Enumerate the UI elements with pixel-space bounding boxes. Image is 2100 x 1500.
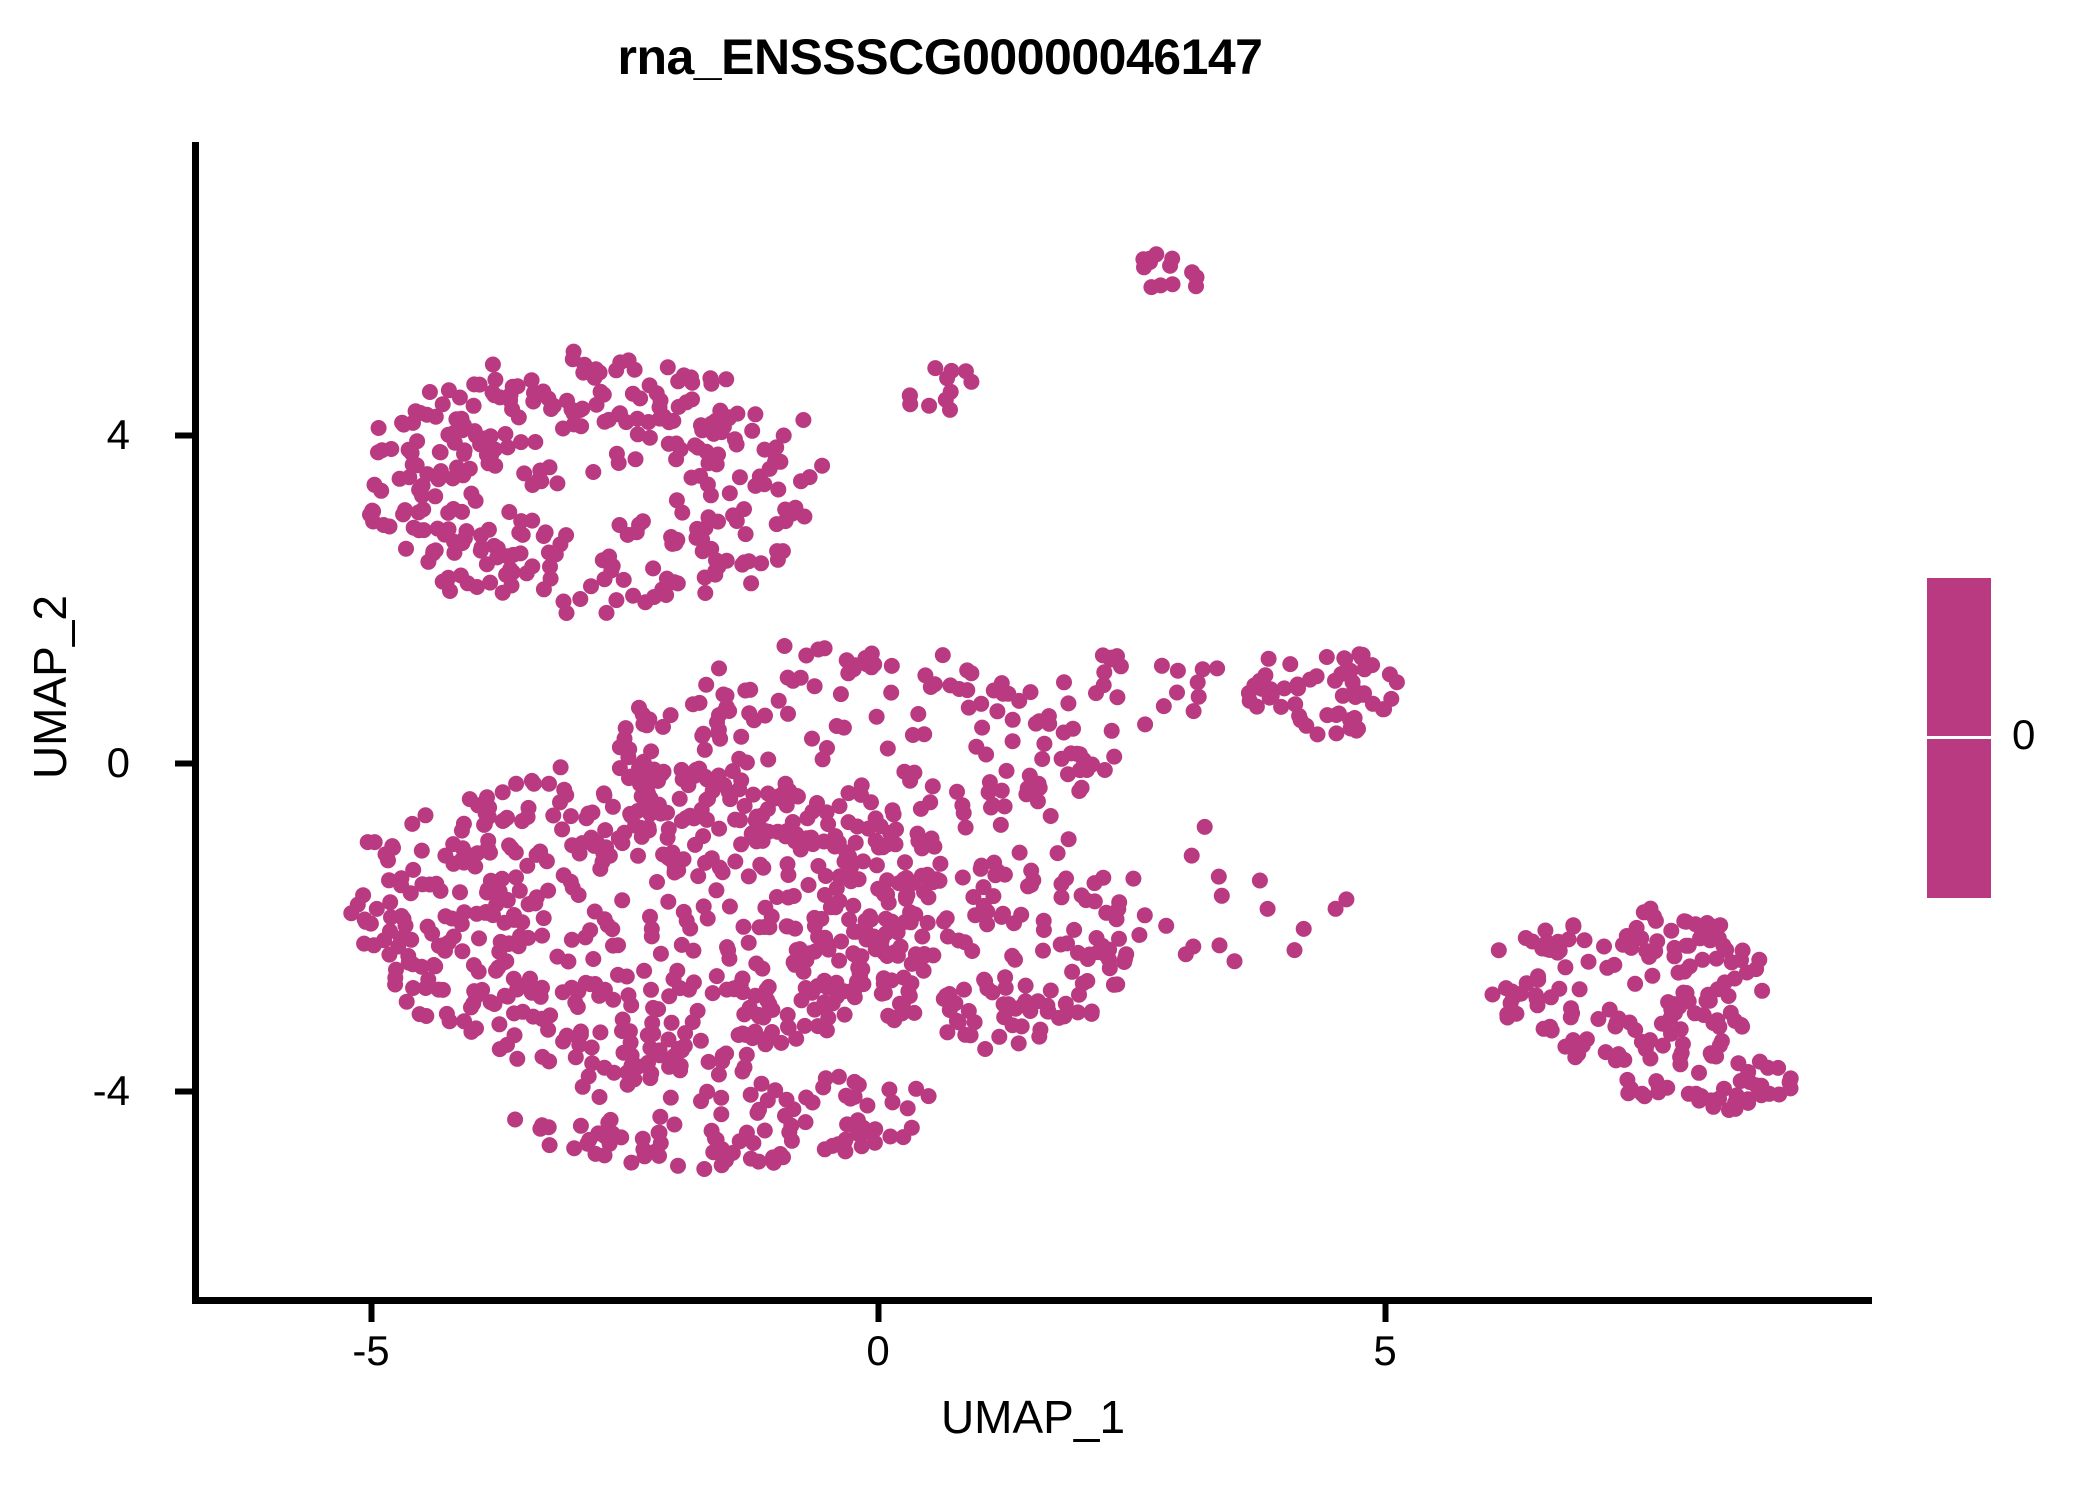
scatter-point — [879, 886, 895, 902]
scatter-point — [1519, 975, 1535, 991]
scatter-point — [1050, 845, 1066, 861]
scatter-point — [1211, 869, 1227, 885]
scatter-point — [597, 571, 613, 587]
scatter-point — [863, 911, 879, 927]
scatter-point — [810, 858, 826, 874]
scatter-point — [1740, 1064, 1756, 1080]
scatter-point — [1137, 907, 1153, 923]
scatter-point — [1581, 954, 1597, 970]
scatter-point — [414, 843, 430, 859]
y-tick-label-4: 4 — [40, 414, 130, 456]
scatter-point — [1109, 976, 1125, 992]
scatter-point — [1058, 871, 1074, 887]
scatter-point — [597, 1147, 613, 1163]
scatter-point — [780, 670, 796, 686]
scatter-point — [1059, 935, 1075, 951]
scatter-point — [711, 1067, 727, 1083]
scatter-point — [420, 972, 436, 988]
scatter-point — [897, 854, 913, 870]
scatter-point — [1031, 1029, 1047, 1045]
scatter-point — [926, 839, 942, 855]
y-tick-label-minus4: -4 — [40, 1070, 130, 1112]
scatter-point — [866, 656, 882, 672]
scatter-point — [949, 784, 965, 800]
scatter-point — [592, 861, 608, 877]
scatter-point — [1382, 666, 1398, 682]
scatter-point — [735, 984, 751, 1000]
scatter-point — [755, 860, 771, 876]
scatter-point — [963, 665, 979, 681]
scatter-point — [727, 854, 743, 870]
scatter-point — [1623, 940, 1639, 956]
scatter-point — [672, 791, 688, 807]
scatter-point — [483, 994, 499, 1010]
scatter-point — [468, 493, 484, 509]
scatter-point — [636, 963, 652, 979]
scatter-point — [780, 1019, 796, 1035]
scatter-point — [374, 442, 390, 458]
scatter-point — [1491, 942, 1507, 958]
scatter-point — [1347, 710, 1363, 726]
scatter-point — [722, 791, 738, 807]
scatter-point — [405, 956, 421, 972]
scatter-point — [1162, 258, 1178, 274]
scatter-point — [504, 578, 520, 594]
scatter-point — [422, 384, 438, 400]
scatter-point — [493, 934, 509, 950]
scatter-point — [1018, 978, 1034, 994]
scatter-point — [1282, 656, 1298, 672]
scatter-point — [999, 763, 1015, 779]
scatter-point — [649, 874, 665, 890]
scatter-point — [387, 970, 403, 986]
scatter-point — [642, 430, 658, 446]
scatter-point — [666, 971, 682, 987]
scatter-point — [670, 1158, 686, 1174]
scatter-point — [632, 776, 648, 792]
scatter-point — [433, 883, 449, 899]
scatter-point — [676, 367, 692, 383]
scatter-point — [880, 1008, 896, 1024]
scatter-point — [571, 887, 587, 903]
scatter-point — [745, 1135, 761, 1151]
scatter-point — [754, 1076, 770, 1092]
scatter-point — [1328, 901, 1344, 917]
scatter-point — [507, 1112, 523, 1128]
scatter-point — [1188, 278, 1204, 294]
scatter-point — [610, 967, 626, 983]
scatter-point — [605, 799, 621, 815]
scatter-point — [1655, 1038, 1671, 1054]
scatter-point — [1536, 1021, 1552, 1037]
scatter-point — [1012, 845, 1028, 861]
scatter-point — [929, 871, 945, 887]
scatter-point — [1557, 959, 1573, 975]
scatter-point — [1084, 1006, 1100, 1022]
scatter-point — [1023, 863, 1039, 879]
scatter-point — [470, 797, 486, 813]
scatter-point — [454, 852, 470, 868]
scatter-point — [780, 706, 796, 722]
scatter-point — [845, 898, 861, 914]
scatter-point — [789, 942, 805, 958]
scatter-point — [993, 817, 1009, 833]
scatter-point — [678, 394, 694, 410]
scatter-point — [777, 1108, 793, 1124]
scatter-point — [1007, 952, 1023, 968]
scatter-point — [555, 984, 571, 1000]
scatter-point — [1708, 951, 1724, 967]
scatter-point — [902, 388, 918, 404]
scatter-point — [914, 868, 930, 884]
scatter-point — [1529, 991, 1545, 1007]
scatter-point — [513, 545, 529, 561]
scatter-point — [877, 985, 893, 1001]
scatter-point — [974, 720, 990, 736]
scatter-point — [652, 411, 668, 427]
scatter-point — [722, 485, 738, 501]
y-axis-label: UMAP_2 — [23, 457, 77, 917]
scatter-point — [1638, 943, 1654, 959]
scatter-point — [608, 362, 624, 378]
scatter-point — [620, 527, 636, 543]
scatter-point — [1106, 749, 1122, 765]
scatter-point — [714, 1141, 730, 1157]
scatter-point — [1143, 279, 1159, 295]
scatter-point — [756, 476, 772, 492]
scatter-point — [1577, 932, 1593, 948]
scatter-point — [479, 440, 495, 456]
scatter-point — [799, 830, 815, 846]
scatter-point — [1287, 942, 1303, 958]
scatter-point — [1693, 1088, 1709, 1104]
scatter-point — [1066, 922, 1082, 938]
scatter-point — [1056, 674, 1072, 690]
scatter-point — [804, 731, 820, 747]
scatter-point — [829, 988, 845, 1004]
scatter-point — [863, 794, 879, 810]
scatter-point — [987, 867, 1003, 883]
scatter-point — [638, 759, 654, 775]
scatter-point — [846, 946, 862, 962]
scatter-point — [432, 444, 448, 460]
scatter-point — [614, 892, 630, 908]
scatter-point — [699, 812, 715, 828]
scatter-point — [1663, 1002, 1679, 1018]
scatter-point — [854, 1138, 870, 1154]
scatter-point — [833, 686, 849, 702]
scatter-point — [595, 552, 611, 568]
scatter-point — [534, 1011, 550, 1027]
scatter-point — [761, 996, 777, 1012]
scatter-point — [888, 822, 904, 838]
scatter-point — [778, 828, 794, 844]
scatter-point — [816, 834, 832, 850]
scatter-point — [566, 344, 582, 360]
scatter-point — [1074, 887, 1090, 903]
scatter-point — [737, 683, 753, 699]
scatter-point — [343, 905, 359, 921]
scatter-point — [570, 999, 586, 1015]
scatter-point — [629, 411, 645, 427]
scatter-point — [644, 928, 660, 944]
scatter-point — [535, 1049, 551, 1065]
scatter-point — [445, 501, 461, 517]
scatter-point — [714, 1157, 730, 1173]
scatter-point — [1619, 1072, 1635, 1088]
scatter-point — [652, 1125, 668, 1141]
scatter-point — [373, 483, 389, 499]
scatter-point — [437, 527, 453, 543]
umap-feature-plot: rna_ENSSSCG00000046147 4 0 -4 -5 0 5 UMA… — [0, 0, 2100, 1500]
scatter-point — [1748, 1077, 1764, 1093]
scatter-point — [661, 821, 677, 837]
scatter-point — [741, 705, 757, 721]
scatter-point — [1109, 689, 1125, 705]
scatter-point — [798, 1090, 814, 1106]
scatter-point — [894, 1005, 910, 1021]
scatter-point — [1700, 987, 1716, 1003]
scatter-point — [393, 870, 409, 886]
scatter-point — [745, 787, 761, 803]
scatter-point — [403, 885, 419, 901]
scatter-point — [666, 1117, 682, 1133]
scatter-point — [1041, 716, 1057, 732]
scatter-point — [1169, 685, 1185, 701]
scatter-point — [1104, 723, 1120, 739]
x-axis-label: UMAP_1 — [194, 1390, 1872, 1444]
scatter-point — [851, 871, 867, 887]
scatter-point — [677, 1025, 693, 1041]
scatter-point — [1319, 707, 1335, 723]
scatter-point — [587, 976, 603, 992]
scatter-point — [469, 579, 485, 595]
scatter-point — [1335, 688, 1351, 704]
scatter-point — [807, 918, 823, 934]
scatter-point — [442, 583, 458, 599]
scatter-point — [585, 464, 601, 480]
scatter-point — [396, 417, 412, 433]
scatter-point — [799, 810, 815, 826]
scatter-point — [1064, 964, 1080, 980]
scatter-point — [757, 1123, 773, 1139]
scatter-point — [661, 1032, 677, 1048]
scatter-point — [802, 469, 818, 485]
scatter-point — [893, 939, 909, 955]
scatter-point — [1131, 927, 1147, 943]
scatter-point — [535, 384, 551, 400]
scatter-point — [486, 538, 502, 554]
scatter-point — [977, 1041, 993, 1057]
scatter-point — [542, 1137, 558, 1153]
scatter-point — [418, 807, 434, 823]
scatter-point — [573, 1118, 589, 1134]
scatter-point — [491, 1016, 507, 1032]
scatter-point — [955, 870, 971, 886]
scatter-point — [695, 543, 711, 559]
scatter-point — [500, 439, 516, 455]
scatter-point — [734, 557, 750, 573]
scatter-point — [705, 985, 721, 1001]
scatter-point — [1096, 664, 1112, 680]
scatter-point — [994, 909, 1010, 925]
scatter-point — [897, 914, 913, 930]
scatter-point — [1733, 1017, 1749, 1033]
scatter-point — [885, 1094, 901, 1110]
scatter-point — [691, 761, 707, 777]
scatter-point — [652, 1109, 668, 1125]
scatter-point — [719, 982, 735, 998]
scatter-point — [592, 1024, 608, 1040]
scatter-point — [621, 741, 637, 757]
scatter-point — [1754, 983, 1770, 999]
scatter-point — [1770, 1060, 1786, 1076]
scatter-point — [1627, 1022, 1643, 1038]
scatter-point — [661, 988, 677, 1004]
scatter-point — [770, 482, 786, 498]
scatter-point — [733, 729, 749, 745]
scatter-point — [828, 975, 844, 991]
scatter-point — [902, 988, 918, 1004]
scatter-point — [553, 759, 569, 775]
scatter-point — [1552, 943, 1568, 959]
scatter-point — [435, 982, 451, 998]
scatter-point — [442, 1013, 458, 1029]
scatter-point — [1293, 712, 1309, 728]
scatter-point — [1608, 1052, 1624, 1068]
scatter-point — [627, 362, 643, 378]
scatter-point — [749, 825, 765, 841]
scatter-point — [381, 947, 397, 963]
scatter-point — [1499, 1006, 1515, 1022]
scatter-point — [1020, 780, 1036, 796]
scatter-point — [944, 363, 960, 379]
scatter-point — [749, 809, 765, 825]
scatter-point — [760, 1030, 776, 1046]
scatter-point — [521, 800, 537, 816]
scatter-point — [801, 877, 817, 893]
scatter-point — [1319, 649, 1335, 665]
scatter-point — [752, 919, 768, 935]
scatter-point — [694, 728, 710, 744]
scatter-point — [588, 361, 604, 377]
scatter-points-layer — [343, 246, 1798, 1177]
scatter-point — [1136, 259, 1152, 275]
scatter-point — [624, 1047, 640, 1063]
scatter-point — [1190, 674, 1206, 690]
scatter-point — [1023, 877, 1039, 893]
scatter-point — [898, 870, 914, 886]
scatter-point — [501, 504, 517, 520]
scatter-point — [1148, 246, 1164, 262]
scatter-point — [1156, 698, 1172, 714]
scatter-point — [408, 403, 424, 419]
scatter-point — [623, 1155, 639, 1171]
scatter-point — [775, 1149, 791, 1165]
scatter-point — [1602, 1002, 1618, 1018]
scatter-point — [997, 969, 1013, 985]
scatter-point — [426, 957, 442, 973]
scatter-point — [606, 1065, 622, 1081]
scatter-point — [592, 1089, 608, 1105]
scatter-point — [397, 502, 413, 518]
scatter-point — [963, 1027, 979, 1043]
scatter-point — [495, 784, 511, 800]
scatter-point — [552, 794, 568, 810]
scatter-point — [697, 742, 713, 758]
scatter-point — [700, 477, 716, 493]
scatter-point — [499, 892, 515, 908]
scatter-point — [727, 431, 743, 447]
scatter-point — [612, 760, 628, 776]
scatter-point — [910, 706, 926, 722]
scatter-point — [747, 406, 763, 422]
scatter-point — [1054, 889, 1070, 905]
scatter-point — [780, 867, 796, 883]
scatter-point — [1572, 981, 1588, 997]
scatter-point — [1056, 1008, 1072, 1024]
scatter-point — [996, 1009, 1012, 1025]
scatter-point — [479, 556, 495, 572]
scatter-point — [1061, 831, 1077, 847]
scatter-point — [469, 906, 485, 922]
scatter-point — [847, 989, 863, 1005]
scatter-point — [663, 1090, 679, 1106]
scatter-point — [556, 594, 572, 610]
scatter-point — [418, 1008, 434, 1024]
scatter-point — [497, 426, 513, 442]
scatter-point — [424, 926, 440, 942]
scatter-point — [635, 513, 651, 529]
scatter-point — [640, 1027, 656, 1043]
scatter-point — [526, 776, 542, 792]
scatter-point — [1185, 939, 1201, 955]
scatter-point — [609, 446, 625, 462]
scatter-point — [527, 895, 543, 911]
scatter-point — [501, 837, 517, 853]
scatter-point — [452, 390, 468, 406]
scatter-point — [1184, 848, 1200, 864]
scatter-point — [536, 910, 552, 926]
scatter-point — [356, 936, 372, 952]
scatter-point — [884, 658, 900, 674]
scatter-point — [1693, 920, 1709, 936]
scatter-point — [1005, 733, 1021, 749]
scatter-point — [1034, 751, 1050, 767]
scatter-point — [598, 839, 614, 855]
scatter-point — [574, 835, 590, 851]
scatter-point — [976, 972, 992, 988]
scatter-point — [564, 932, 580, 948]
scatter-point — [702, 370, 718, 386]
scatter-point — [543, 401, 559, 417]
scatter-point — [685, 943, 701, 959]
scatter-point — [649, 385, 665, 401]
scatter-point — [593, 384, 609, 400]
scatter-point — [1054, 751, 1070, 767]
scatter-point — [642, 909, 658, 925]
scatter-point — [668, 535, 684, 551]
scatter-point — [1607, 1019, 1623, 1035]
scatter-point — [519, 858, 535, 874]
scatter-point — [815, 1079, 831, 1095]
scatter-point — [549, 475, 565, 491]
scatter-point — [1565, 917, 1581, 933]
scatter-point — [713, 1090, 729, 1106]
scatter-point — [712, 403, 728, 419]
scatter-point — [722, 899, 738, 915]
scatter-point — [732, 469, 748, 485]
